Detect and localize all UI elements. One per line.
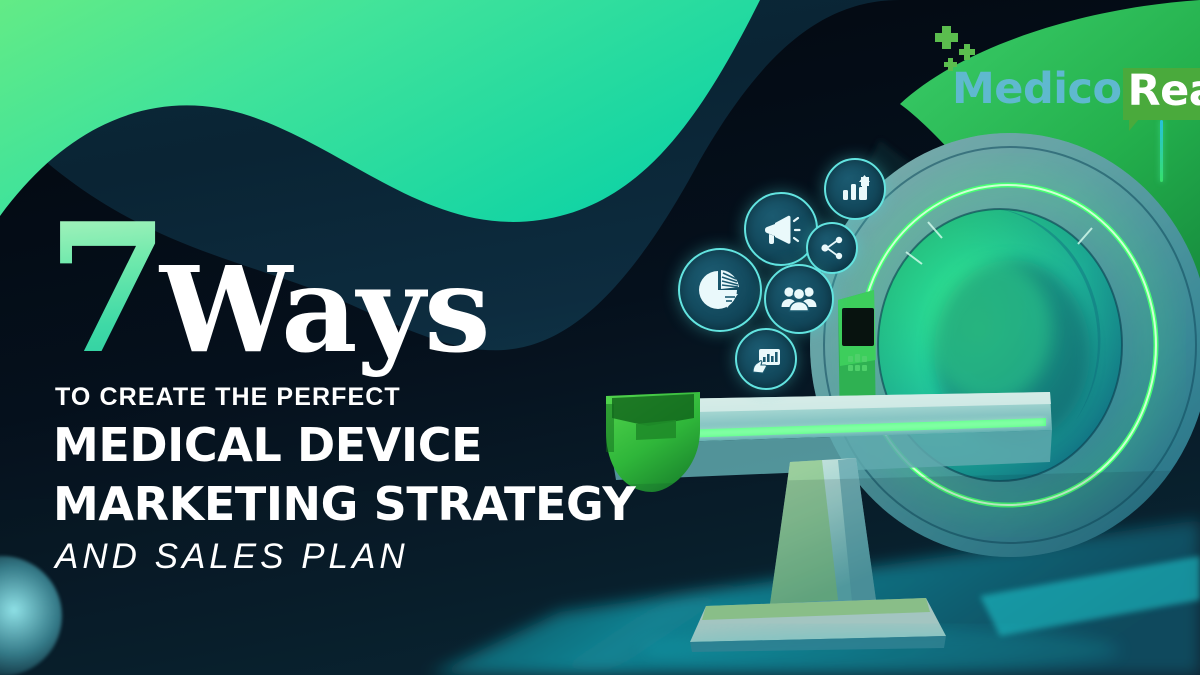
marketing-banner: Medico Reach 7 Ways TO CREATE THE PERFEC… <box>0 0 1200 675</box>
tablet-analytics-icon-badge[interactable] <box>735 328 797 390</box>
pie-chart-icon <box>696 266 744 314</box>
logo-wordmark: Medico Reach <box>952 68 1200 120</box>
logo-text-medico: Medico <box>952 68 1122 111</box>
headline-sub-line-2: MARKETING STRATEGY <box>53 480 672 530</box>
speech-bubble-tail <box>1129 119 1139 131</box>
headline-sub-line-1: MEDICAL DEVICE <box>53 421 672 471</box>
growth-chart-icon <box>838 172 872 206</box>
logo-reach-badge: Reach <box>1123 68 1200 120</box>
bore-inner-glow <box>928 258 1052 402</box>
share-network-icon-badge[interactable] <box>806 222 858 274</box>
people-group-icon-badge[interactable] <box>764 264 834 334</box>
headline-eyebrow: TO CREATE THE PERFECT <box>55 383 672 412</box>
headline-number: 7 <box>46 212 166 365</box>
megaphone-icon <box>761 209 801 249</box>
people-group-icon <box>780 280 818 318</box>
headline-word: Ways <box>160 251 490 369</box>
pie-chart-icon-badge[interactable] <box>678 248 762 332</box>
control-screen <box>842 308 874 346</box>
logo[interactable]: Medico Reach <box>928 24 1178 110</box>
headline-block: 7 Ways TO CREATE THE PERFECT MEDICAL DEV… <box>52 212 672 577</box>
logo-text-reach: Reach <box>1123 68 1200 120</box>
accent-line <box>1160 120 1163 182</box>
growth-chart-icon-badge[interactable] <box>824 158 886 220</box>
headline-sub-italic: AND SALES PLAN <box>55 537 672 577</box>
headline-primary-line: 7 Ways <box>46 212 672 369</box>
share-network-icon <box>819 235 845 261</box>
tablet-analytics-icon <box>749 342 783 376</box>
